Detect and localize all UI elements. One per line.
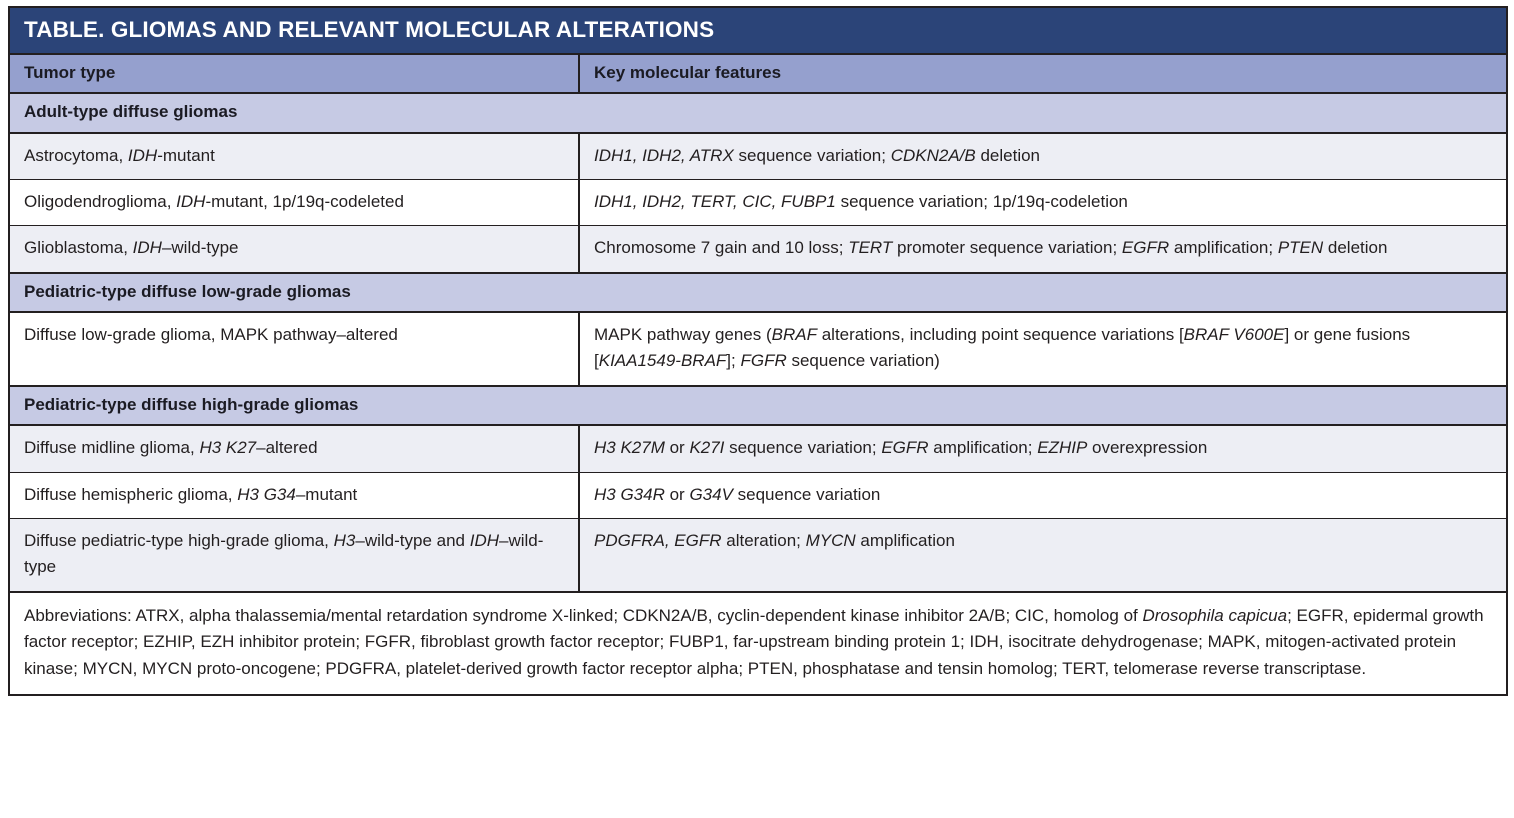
column-header-tumor-type: Tumor type [9, 54, 579, 93]
cell-key-molecular-features: PDGFRA, EGFR alteration; MYCN amplificat… [579, 518, 1507, 591]
table-row: Diffuse midline glioma, H3 K27–alteredH3… [9, 425, 1507, 472]
cell-key-molecular-features: Chromosome 7 gain and 10 loss; TERT prom… [579, 226, 1507, 273]
abbreviations-footnote: Abbreviations: ATRX, alpha thalassemia/m… [9, 592, 1507, 696]
column-header-row: Tumor type Key molecular features [9, 54, 1507, 93]
cell-key-molecular-features: MAPK pathway genes (BRAF alterations, in… [579, 312, 1507, 386]
table-body: TABLE. GLIOMAS AND RELEVANT MOLECULAR AL… [9, 7, 1507, 695]
cell-key-molecular-features: IDH1, IDH2, TERT, CIC, FUBP1 sequence va… [579, 180, 1507, 226]
table-title-row: TABLE. GLIOMAS AND RELEVANT MOLECULAR AL… [9, 7, 1507, 54]
column-header-key-molecular-features: Key molecular features [579, 54, 1507, 93]
cell-key-molecular-features: H3 G34R or G34V sequence variation [579, 472, 1507, 518]
cell-tumor-type: Diffuse low-grade glioma, MAPK pathway–a… [9, 312, 579, 386]
abbreviations-footnote-row: Abbreviations: ATRX, alpha thalassemia/m… [9, 592, 1507, 696]
table-row: Diffuse low-grade glioma, MAPK pathway–a… [9, 312, 1507, 386]
cell-key-molecular-features: IDH1, IDH2, ATRX sequence variation; CDK… [579, 133, 1507, 180]
cell-tumor-type: Diffuse pediatric-type high-grade glioma… [9, 518, 579, 591]
cell-key-molecular-features: H3 K27M or K27I sequence variation; EGFR… [579, 425, 1507, 472]
table-title: TABLE. GLIOMAS AND RELEVANT MOLECULAR AL… [9, 7, 1507, 54]
cell-tumor-type: Oligodendroglioma, IDH-mutant, 1p/19q-co… [9, 180, 579, 226]
cell-tumor-type: Diffuse hemispheric glioma, H3 G34–mutan… [9, 472, 579, 518]
section-header-row: Pediatric-type diffuse low-grade gliomas [9, 273, 1507, 312]
table-row: Diffuse pediatric-type high-grade glioma… [9, 518, 1507, 591]
table-container: TABLE. GLIOMAS AND RELEVANT MOLECULAR AL… [0, 0, 1514, 818]
section-header-label: Adult-type diffuse gliomas [9, 93, 1507, 132]
table-row: Oligodendroglioma, IDH-mutant, 1p/19q-co… [9, 180, 1507, 226]
section-header-label: Pediatric-type diffuse low-grade gliomas [9, 273, 1507, 312]
section-header-label: Pediatric-type diffuse high-grade glioma… [9, 386, 1507, 425]
cell-tumor-type: Glioblastoma, IDH–wild-type [9, 226, 579, 273]
table-row: Diffuse hemispheric glioma, H3 G34–mutan… [9, 472, 1507, 518]
gliomas-molecular-alterations-table: TABLE. GLIOMAS AND RELEVANT MOLECULAR AL… [8, 6, 1508, 696]
cell-tumor-type: Diffuse midline glioma, H3 K27–altered [9, 425, 579, 472]
table-row: Glioblastoma, IDH–wild-typeChromosome 7 … [9, 226, 1507, 273]
cell-tumor-type: Astrocytoma, IDH-mutant [9, 133, 579, 180]
section-header-row: Pediatric-type diffuse high-grade glioma… [9, 386, 1507, 425]
table-row: Astrocytoma, IDH-mutantIDH1, IDH2, ATRX … [9, 133, 1507, 180]
section-header-row: Adult-type diffuse gliomas [9, 93, 1507, 132]
